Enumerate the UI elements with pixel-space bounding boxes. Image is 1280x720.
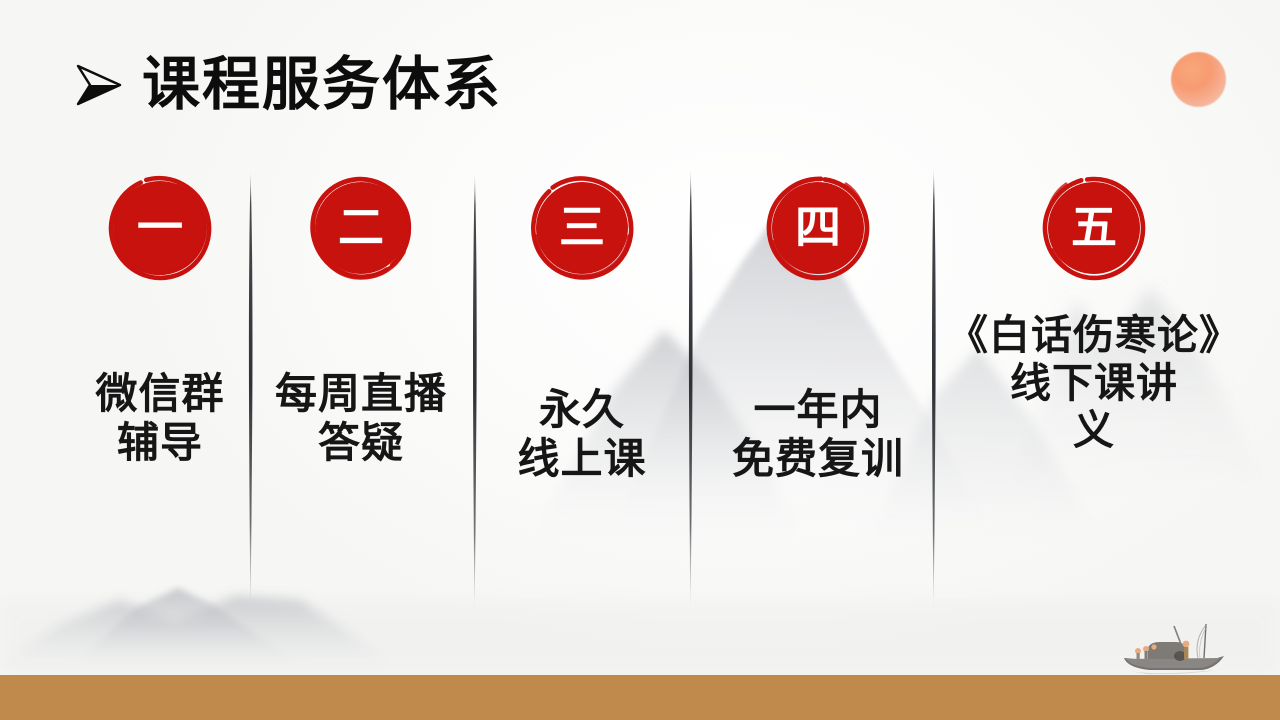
service-columns: 一 微信群 辅导 二 每周直播 答疑: [0, 170, 1280, 630]
badge-label-4: 四: [760, 170, 876, 286]
slide-canvas: 课程服务体系: [0, 0, 1280, 720]
bottom-color-band: [0, 675, 1280, 720]
service-text-3: 永久 线上课: [487, 386, 677, 483]
service-text-line: 线下课讲: [944, 360, 1244, 408]
badge-number-4: 四: [760, 170, 876, 286]
badge-number-5: 五: [1036, 170, 1152, 286]
service-column-4[interactable]: 四 一年内 免费复训: [712, 170, 924, 483]
service-column-2[interactable]: 二 每周直播 答疑: [258, 170, 464, 467]
badge-label-1: 一: [102, 170, 218, 286]
slide-header: 课程服务体系: [72, 56, 502, 114]
badge-label-2: 二: [303, 170, 419, 286]
service-text-line: 每周直播: [258, 370, 464, 419]
page-title: 课程服务体系: [142, 56, 502, 114]
service-text-line: 线上课: [487, 435, 677, 484]
service-column-3[interactable]: 三 永久 线上课: [487, 170, 677, 483]
service-text-1: 微信群 辅导: [62, 370, 258, 467]
service-text-line: 答疑: [258, 419, 464, 468]
service-text-5: 《白话伤寒论》 线下课讲 义: [944, 312, 1244, 455]
sun-icon: [1171, 52, 1226, 107]
badge-label-3: 三: [524, 170, 640, 286]
badge-number-3: 三: [524, 170, 640, 286]
service-column-5[interactable]: 五 《白话伤寒论》 线下课讲 义: [944, 170, 1244, 455]
service-text-line: 微信群: [62, 370, 258, 419]
service-column-1[interactable]: 一 微信群 辅导: [62, 170, 258, 467]
service-text-line: 《白话伤寒论》: [944, 312, 1244, 360]
service-text-2: 每周直播 答疑: [258, 370, 464, 467]
arrowhead-bullet-icon: [72, 62, 124, 108]
service-text-line: 永久: [487, 386, 677, 435]
service-text-line: 免费复训: [712, 435, 924, 484]
service-text-4: 一年内 免费复训: [712, 386, 924, 483]
service-text-line: 义: [944, 407, 1244, 455]
service-text-line: 辅导: [62, 419, 258, 468]
service-text-line: 一年内: [712, 386, 924, 435]
badge-number-1: 一: [102, 170, 218, 286]
badge-number-2: 二: [303, 170, 419, 286]
badge-label-5: 五: [1036, 170, 1152, 286]
